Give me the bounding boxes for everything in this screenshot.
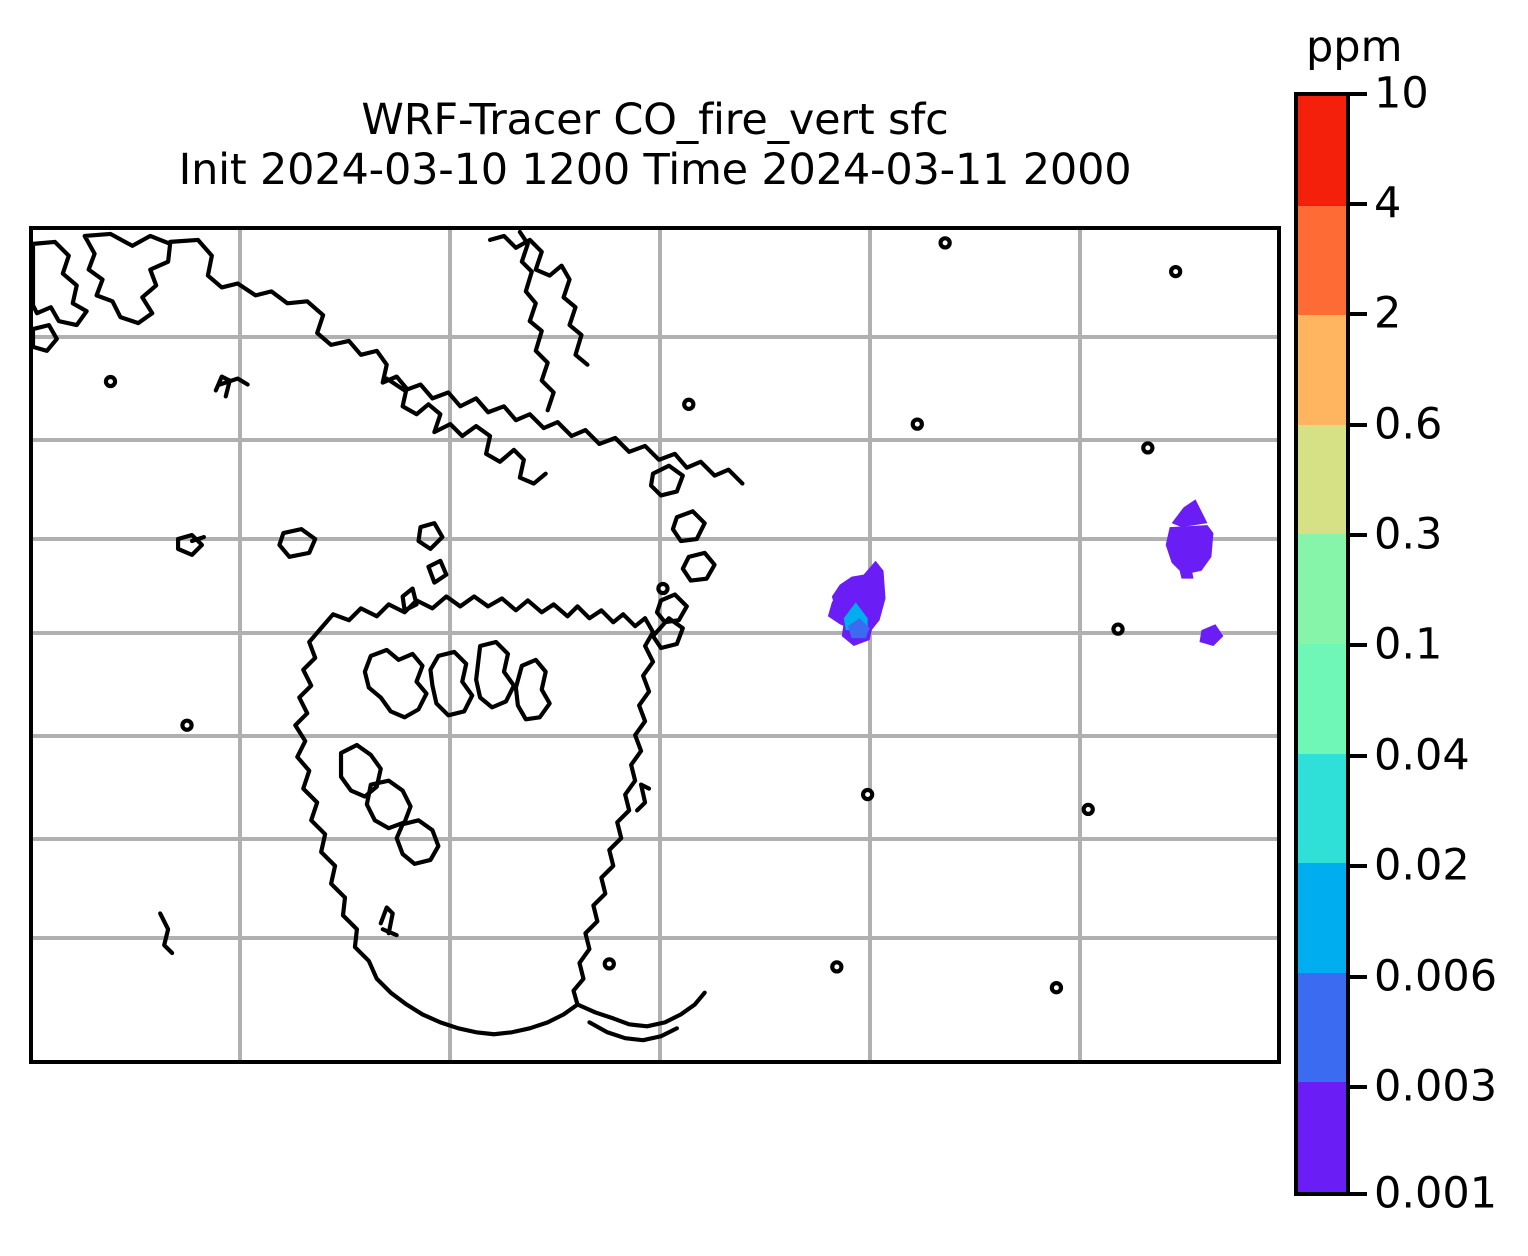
colorbar-tick-label: 0.001 — [1374, 1173, 1497, 1216]
colorbar-tick-label: 0.003 — [1374, 1066, 1497, 1109]
colorbar-tick — [1350, 312, 1367, 316]
colorbar-tick — [1350, 202, 1367, 206]
colorbar-tick — [1350, 1085, 1367, 1089]
station-marker — [1171, 267, 1180, 276]
colorbar-band — [1298, 425, 1346, 535]
station-marker — [182, 721, 191, 730]
colorbar-tick-label: 2 — [1374, 293, 1401, 336]
station-marker — [684, 400, 693, 409]
station-marker — [1052, 983, 1061, 992]
colorbar-tick-label: 0.02 — [1374, 845, 1470, 888]
colorbar-band — [1298, 1082, 1346, 1192]
colorbar-tick-label: 0.1 — [1374, 624, 1442, 667]
colorbar-band — [1298, 644, 1346, 754]
page-title: WRF-Tracer CO_fire_vert sfc Init 2024-03… — [29, 96, 1281, 196]
colorbar-tick — [1350, 92, 1367, 96]
title-line-1: WRF-Tracer CO_fire_vert sfc — [29, 96, 1281, 146]
colorbar-tick — [1350, 864, 1367, 868]
colorbar-band — [1298, 206, 1346, 316]
station-marker — [106, 377, 115, 386]
colorbar-tick-label: 0.6 — [1374, 404, 1442, 447]
station-marker — [941, 238, 950, 247]
station-marker — [1143, 443, 1152, 452]
station-marker — [605, 959, 614, 968]
colorbar-band — [1298, 863, 1346, 973]
map-plot-area[interactable] — [29, 226, 1281, 1064]
station-marker-layer — [33, 230, 1277, 1060]
colorbar-band — [1298, 973, 1346, 1083]
figure-canvas: WRF-Tracer CO_fire_vert sfc Init 2024-03… — [0, 0, 1528, 1256]
colorbar-band — [1298, 534, 1346, 644]
colorbar-band — [1298, 315, 1346, 425]
colorbar-band — [1298, 96, 1346, 206]
colorbar-tick — [1350, 533, 1367, 537]
station-marker — [1113, 625, 1122, 634]
colorbar-tick — [1350, 643, 1367, 647]
station-marker — [832, 962, 841, 971]
station-marker — [913, 420, 922, 429]
colorbar-tick-label: 0.3 — [1374, 514, 1442, 557]
colorbar-band — [1298, 754, 1346, 864]
station-marker — [658, 584, 667, 593]
station-markers — [106, 238, 1180, 992]
station-marker — [1084, 805, 1093, 814]
colorbar-tick — [1350, 1192, 1367, 1196]
colorbar[interactable]: 10 4 2 0.6 0.3 0.1 0.04 0.02 0.006 0.003… — [1294, 92, 1350, 1196]
colorbar-tick-label: 0.04 — [1374, 735, 1470, 778]
colorbar-tick — [1350, 754, 1367, 758]
title-line-2: Init 2024-03-10 1200 Time 2024-03-11 200… — [29, 146, 1281, 196]
colorbar-tick-label: 4 — [1374, 183, 1401, 226]
colorbar-gradient — [1294, 92, 1350, 1196]
colorbar-tick-label: 10 — [1374, 73, 1429, 116]
colorbar-tick — [1350, 975, 1367, 979]
colorbar-tick-label: 0.006 — [1374, 956, 1497, 999]
colorbar-tick — [1350, 423, 1367, 427]
colorbar-unit-label: ppm — [1306, 26, 1402, 69]
station-marker — [863, 790, 872, 799]
